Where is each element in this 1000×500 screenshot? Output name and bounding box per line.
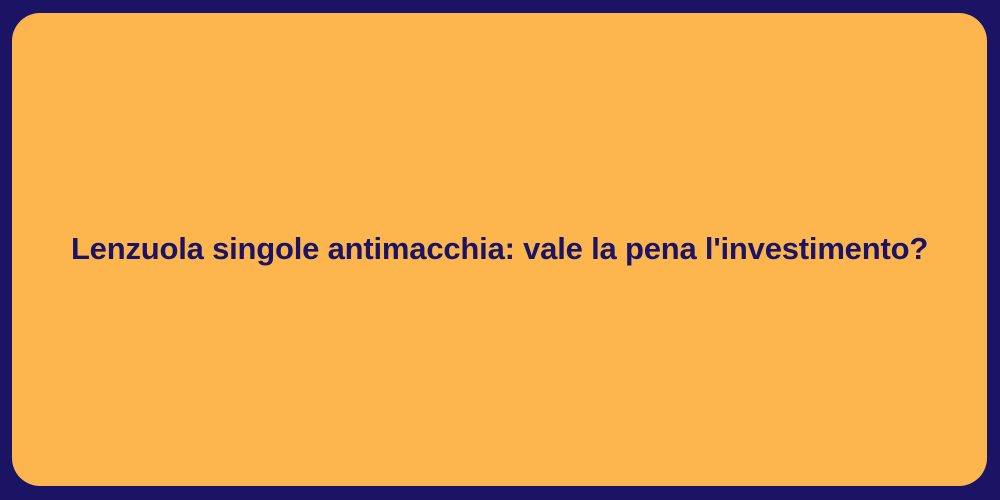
page-title: Lenzuola singole antimacchia: vale la pe… — [12, 230, 987, 269]
content-card: Lenzuola singole antimacchia: vale la pe… — [12, 13, 987, 486]
outer-frame: Lenzuola singole antimacchia: vale la pe… — [0, 0, 1000, 500]
